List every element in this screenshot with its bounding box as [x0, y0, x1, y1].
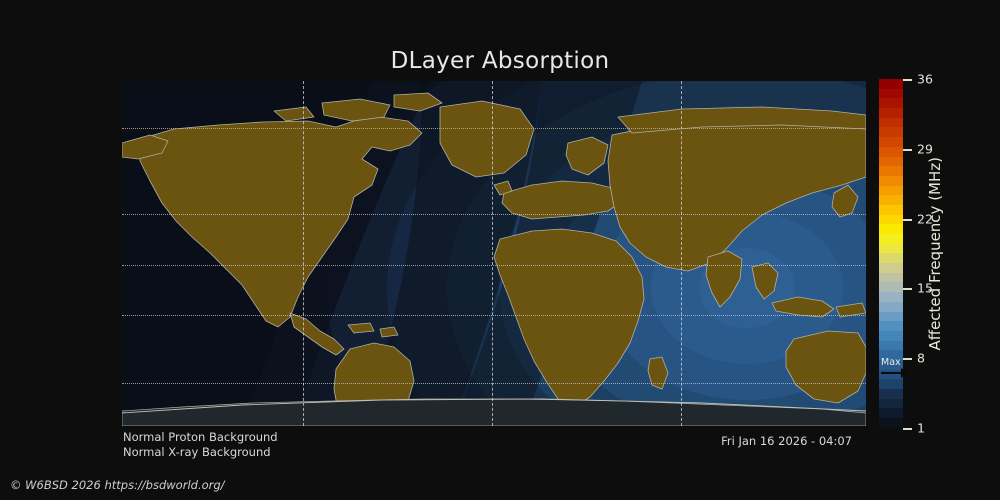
colorbar-band: [879, 302, 903, 312]
colorbar-band: [879, 389, 903, 399]
colorbar-title: Affected Frequency (MHz): [922, 79, 948, 428]
colorbar-title-text: Affected Frequency (MHz): [926, 157, 944, 351]
colorbar-band: [879, 234, 903, 244]
colorbar-band: [879, 195, 903, 205]
colorbar-band: [879, 215, 903, 225]
colorbar-band: [879, 127, 903, 137]
map-canvas: [122, 81, 866, 426]
colorbar-tick-mark: [903, 149, 912, 151]
colorbar-tick-mark: [903, 288, 912, 290]
colorbar-band: [879, 292, 903, 302]
credit-line: © W6BSD 2026 https://bsdworld.org/: [10, 478, 225, 492]
colorbar-tick-mark: [903, 428, 912, 430]
colorbar-tick-mark: [903, 219, 912, 221]
colorbar-band: [879, 312, 903, 322]
colorbar-band: [879, 98, 903, 108]
colorbar-band: [879, 176, 903, 186]
page-title: DLayer Absorption: [0, 48, 1000, 74]
colorbar-band: [879, 379, 903, 389]
colorbar-band: [879, 224, 903, 234]
colorbar-band: [879, 263, 903, 273]
status-block: Normal Proton Background Normal X-ray Ba…: [123, 430, 278, 460]
colorbar-band: [879, 408, 903, 418]
colorbar[interactable]: 1815222936 Max: [879, 79, 903, 428]
timestamp: Fri Jan 16 2026 - 04:07: [721, 434, 852, 448]
colorbar-band: [879, 108, 903, 118]
colorbar-band: [879, 273, 903, 283]
colorbar-band: [879, 321, 903, 331]
colorbar-band: [879, 244, 903, 254]
colorbar-band: [879, 399, 903, 409]
status-proton: Normal Proton Background: [123, 430, 278, 445]
absorption-map[interactable]: [122, 81, 866, 426]
colorbar-band: [879, 147, 903, 157]
colorbar-tick-mark: [903, 79, 912, 81]
colorbar-band: [879, 253, 903, 263]
colorbar-band: [879, 137, 903, 147]
colorbar-band: [879, 79, 903, 89]
colorbar-band: [879, 157, 903, 167]
colorbar-band: [879, 418, 903, 428]
colorbar-band: [879, 341, 903, 351]
colorbar-band: [879, 89, 903, 99]
colorbar-band: [879, 205, 903, 215]
colorbar-band: [879, 118, 903, 128]
status-xray: Normal X-ray Background: [123, 445, 278, 460]
colorbar-band: [879, 282, 903, 292]
colorbar-band: [879, 331, 903, 341]
colorbar-band: [879, 166, 903, 176]
colorbar-band: [879, 186, 903, 196]
